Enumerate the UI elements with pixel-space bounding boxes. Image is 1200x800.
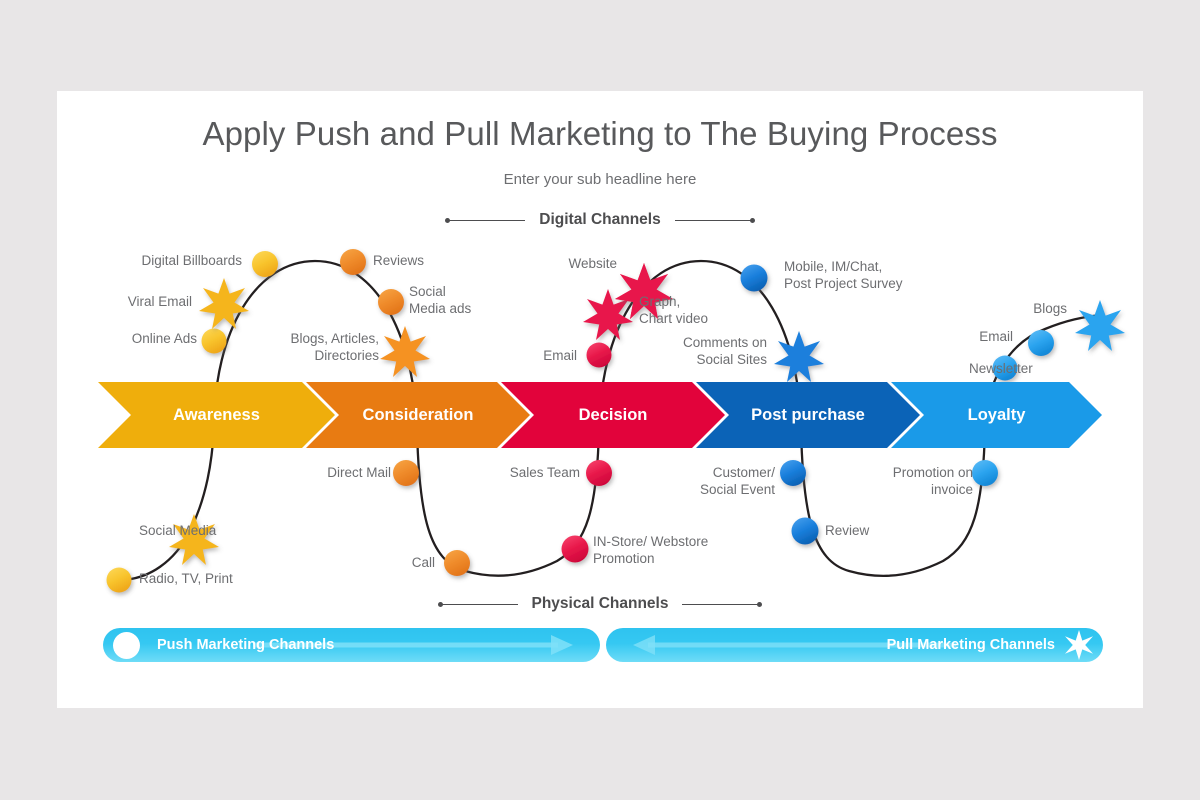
slide-canvas: Apply Push and Pull Marketing to The Buy… xyxy=(57,91,1143,708)
label-instore-line1: IN-Store/ Webstore xyxy=(593,534,708,549)
node-sales-team[interactable] xyxy=(586,460,612,486)
label-graph-chart-line2: Chart video xyxy=(639,311,708,326)
label-social-media-ads-line2: Media ads xyxy=(409,301,471,316)
node-social-media-ads[interactable] xyxy=(378,289,404,315)
stage-label-decision: Decision xyxy=(501,382,725,448)
label-promotion-invoice-line1: Promotion on xyxy=(893,465,973,480)
label-blogs-articles-line2: Directories xyxy=(314,348,379,363)
pull-marketing-bar[interactable]: Pull Marketing Channels xyxy=(606,628,1103,662)
label-call: Call xyxy=(357,555,435,570)
label-email-decision: Email xyxy=(489,348,577,363)
node-email-loyalty[interactable] xyxy=(1028,330,1054,356)
node-blogs-articles[interactable] xyxy=(380,326,430,377)
label-promotion-invoice-line2: invoice xyxy=(931,482,973,497)
node-mobile-im-chat[interactable] xyxy=(741,265,768,292)
label-graph-chart-line1: Graph, xyxy=(639,294,680,309)
circle-marker-icon xyxy=(113,632,140,659)
node-social-media[interactable] xyxy=(169,514,219,565)
node-online-ads[interactable] xyxy=(202,329,227,354)
stage-label-post-purchase: Post purchase xyxy=(696,382,920,448)
node-radio-tv-print[interactable] xyxy=(107,568,132,593)
label-mobile-im-line2: Post Project Survey xyxy=(784,276,903,291)
label-mobile-im-line1: Mobile, IM/Chat, xyxy=(784,259,882,274)
label-online-ads: Online Ads xyxy=(85,331,197,346)
node-viral-email[interactable] xyxy=(199,278,249,329)
label-review: Review xyxy=(825,523,911,538)
label-comments-social-line1: Comments on xyxy=(683,335,767,350)
label-website: Website xyxy=(517,256,617,271)
node-call[interactable] xyxy=(444,550,470,576)
label-sales-team: Sales Team xyxy=(480,465,580,480)
star-marker-icon xyxy=(1063,629,1095,661)
label-comments-social-line2: Social Sites xyxy=(696,352,767,367)
node-review[interactable] xyxy=(792,518,819,545)
node-comments-social-sites[interactable] xyxy=(774,331,824,382)
label-radio-tv-print: Radio, TV, Print xyxy=(139,571,269,586)
label-social-media: Social Media xyxy=(139,523,249,538)
label-customer-social-line1: Customer/ xyxy=(713,465,775,480)
stage-label-awareness: Awareness xyxy=(98,382,335,448)
node-customer-social-event[interactable] xyxy=(780,460,806,486)
push-marketing-bar[interactable]: Push Marketing Channels xyxy=(103,628,600,662)
stage-label-loyalty: Loyalty xyxy=(891,382,1102,448)
push-marketing-label: Push Marketing Channels xyxy=(157,637,334,653)
node-digital-billboards[interactable] xyxy=(252,251,278,277)
label-digital-billboards: Digital Billboards xyxy=(87,253,242,268)
node-blogs-loyalty[interactable] xyxy=(1075,300,1125,351)
label-social-media-ads-line1: Social xyxy=(409,284,446,299)
node-promotion-on-invoice[interactable] xyxy=(972,460,998,486)
label-direct-mail: Direct Mail xyxy=(293,465,391,480)
node-direct-mail[interactable] xyxy=(393,460,419,486)
node-email-decision[interactable] xyxy=(587,343,612,368)
label-blogs-articles-line1: Blogs, Articles, xyxy=(290,331,379,346)
label-instore-line2: Promotion xyxy=(593,551,655,566)
curve-postpurchase-lower xyxy=(801,429,985,576)
label-blogs-loyalty: Blogs xyxy=(987,301,1067,316)
label-email-loyalty: Email xyxy=(927,329,1013,344)
label-customer-social-line2: Social Event xyxy=(700,482,775,497)
pull-marketing-label: Pull Marketing Channels xyxy=(887,637,1055,653)
node-reviews[interactable] xyxy=(340,249,366,275)
label-reviews: Reviews xyxy=(373,253,463,268)
label-viral-email: Viral Email xyxy=(77,294,192,309)
stage-label-consideration: Consideration xyxy=(306,382,530,448)
node-instore-webstore-promotion[interactable] xyxy=(562,536,589,563)
label-newsletter: Newsletter xyxy=(969,361,1074,376)
